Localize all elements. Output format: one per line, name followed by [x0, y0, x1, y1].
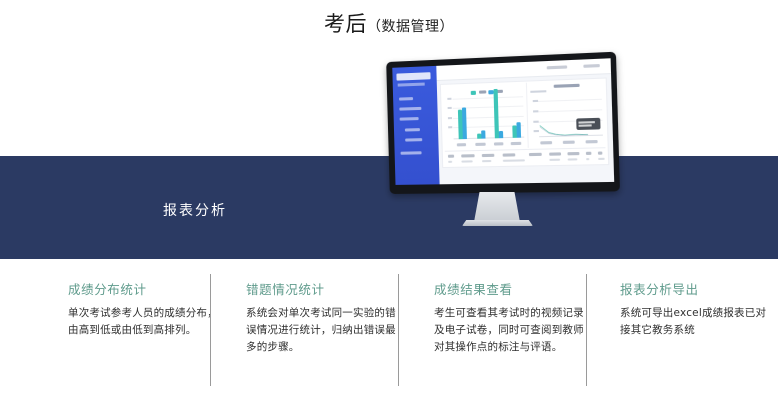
- line-x-tick-2: [563, 140, 575, 143]
- table-header-1: [448, 155, 454, 158]
- table-cell-8: [598, 158, 605, 160]
- table-header-2: [462, 155, 475, 158]
- line-x-tick-1: [540, 141, 552, 144]
- feature-body-3: 考生可查看其考试时的视频记录及电子试卷，同时可查阅到教师对其操作点的标注与评语。: [434, 305, 586, 356]
- monitor-stand-neck: [474, 192, 520, 222]
- x-tick-3: [493, 142, 503, 145]
- sidebar-item-3: [400, 117, 419, 121]
- monitor-bezel: [386, 52, 620, 194]
- line-gridline-1: [538, 99, 602, 102]
- line-y-tick-4: [534, 130, 539, 132]
- x-tick-4: [511, 141, 521, 144]
- monitor-stand-base: [462, 220, 533, 226]
- monitor-illustration: [388, 62, 613, 234]
- y-tick-1: [448, 97, 451, 99]
- table-cell-1: [448, 161, 453, 163]
- line-y-label: [530, 90, 546, 93]
- table-header-3: [482, 154, 495, 157]
- feature-body-4: 系统可导出excel成绩报表已对接其它教务系统: [620, 305, 772, 339]
- table-header-4: [503, 154, 516, 157]
- legend-label-1: [479, 90, 487, 93]
- y-tick-2: [448, 107, 451, 109]
- sidebar-item-5: [405, 138, 423, 141]
- app-logo-icon: [396, 72, 430, 80]
- line-gridline-2: [538, 109, 602, 112]
- page-title-main: 考后: [324, 12, 367, 36]
- table-header-9: [598, 152, 603, 155]
- app-logo-subtext: [398, 83, 425, 87]
- table-header-5: [528, 153, 541, 156]
- table-header-6: [550, 153, 562, 156]
- feature-title-2: 错题情况统计: [246, 282, 398, 298]
- y-tick-4: [449, 126, 452, 128]
- table-cell-2: [462, 161, 473, 163]
- bar-g3-s2: [499, 131, 503, 138]
- bar-g4-s2: [516, 122, 521, 138]
- y-tick-3: [448, 117, 451, 119]
- table-header-8: [586, 152, 591, 155]
- table-cell-7: [586, 158, 589, 160]
- table-cell-4: [503, 160, 526, 162]
- page-title-sub: （数据管理）: [367, 19, 454, 35]
- band-label: 报表分析: [163, 200, 227, 220]
- gridline-1: [453, 96, 524, 100]
- bar-chart: [443, 83, 529, 150]
- table-cell-6: [568, 159, 578, 161]
- feature-item-1: 成绩分布统计 单次考试参考人员的成绩分布，由高到低或由低到高排列。: [68, 282, 220, 339]
- slide-root: 考后（数据管理） 报表分析: [0, 0, 778, 400]
- feature-item-3: 成绩结果查看 考生可查看其考试时的视频记录及电子试卷，同时可查阅到教师对其操作点…: [434, 282, 586, 356]
- topbar-chip-2: [584, 64, 600, 68]
- table-cell-3: [482, 160, 492, 162]
- feature-body-2: 系统会对单次考试同一实验的错误情况进行统计，归纳出错误最多的步骤。: [246, 305, 398, 356]
- x-tick-1: [456, 143, 466, 146]
- sidebar-item-6: [401, 151, 422, 154]
- feature-item-4: 报表分析导出 系统可导出excel成绩报表已对接其它教务系统: [620, 282, 772, 339]
- app-content: [440, 77, 609, 168]
- table-cell-5: [550, 159, 560, 161]
- feature-divider-3: [586, 274, 587, 386]
- table-header-7: [568, 152, 580, 155]
- sidebar-item-4: [404, 128, 420, 131]
- sidebar-item-1: [399, 97, 413, 101]
- feature-item-2: 错题情况统计 系统会对单次考试同一实验的错误情况进行统计，归纳出错误最多的步骤。: [246, 282, 398, 356]
- x-tick-2: [475, 142, 485, 145]
- chart-tooltip: [576, 118, 601, 130]
- topbar-chip-1: [546, 66, 567, 70]
- page-title: 考后（数据管理）: [0, 12, 778, 37]
- bar-g1-s2: [462, 107, 467, 139]
- feature-list: 成绩分布统计 单次考试参考人员的成绩分布，由高到低或由低到高排列。 错题情况统计…: [0, 282, 778, 400]
- feature-title-4: 报表分析导出: [620, 282, 772, 298]
- feature-title-1: 成绩分布统计: [68, 282, 220, 298]
- feature-divider-2: [398, 274, 399, 386]
- legend-swatch-1: [470, 91, 475, 95]
- sidebar-item-2: [399, 107, 421, 111]
- bar-g2-s2: [481, 130, 485, 139]
- data-table: [444, 147, 606, 165]
- feature-divider-1: [210, 274, 211, 386]
- line-x-tick-3: [586, 140, 598, 143]
- line-chart-title: [554, 83, 580, 87]
- app-sidebar: [392, 66, 439, 185]
- line-chart: [528, 80, 606, 148]
- monitor-screen: [392, 58, 614, 185]
- feature-title-3: 成绩结果查看: [434, 282, 586, 298]
- feature-body-1: 单次考试参考人员的成绩分布，由高到低或由低到高排列。: [68, 305, 220, 339]
